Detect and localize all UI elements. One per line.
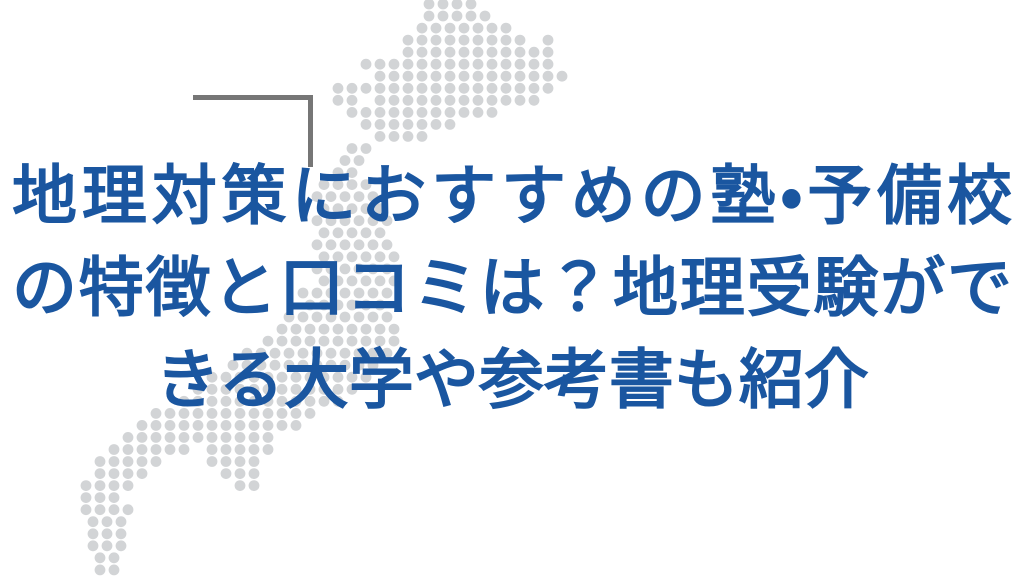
title-line-1: 地理対策におすすめの塾・予備校 (12, 150, 1012, 242)
title-card: 地理対策におすすめの塾・予備校 の特徴と口コミは？地理受験がで きる大学や参考書… (0, 0, 1024, 576)
page-title: 地理対策におすすめの塾・予備校 の特徴と口コミは？地理受験がで きる大学や参考書… (0, 0, 1024, 576)
title-line-2: の特徴と口コミは？地理受験がで (12, 242, 1012, 334)
title-line-3: きる大学や参考書も紹介 (155, 334, 869, 426)
